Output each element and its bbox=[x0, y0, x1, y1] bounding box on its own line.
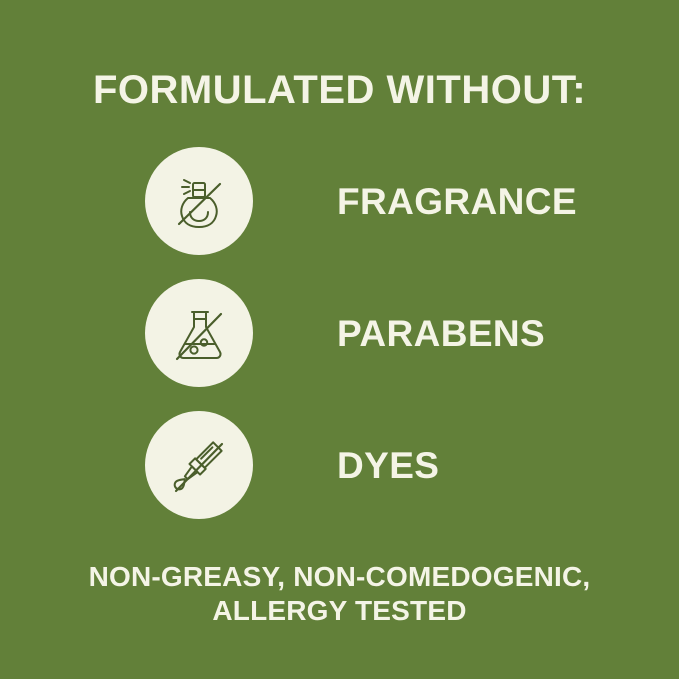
footer-line-1: NON-GREASY, NON-COMEDOGENIC, bbox=[0, 560, 679, 594]
list-item: PARABENS bbox=[0, 279, 679, 389]
list-item-label: PARABENS bbox=[337, 314, 545, 354]
no-parabens-flask-icon bbox=[163, 297, 235, 369]
footer-line-2: ALLERGY TESTED bbox=[0, 594, 679, 628]
list-item-label: DYES bbox=[337, 446, 439, 486]
list-item: FRAGRANCE bbox=[0, 147, 679, 257]
claims-list: FRAGRANCE bbox=[0, 147, 679, 543]
footer-claims: NON-GREASY, NON-COMEDOGENIC, ALLERGY TES… bbox=[0, 560, 679, 628]
no-fragrance-bottle-icon bbox=[163, 165, 235, 237]
formulated-without-card: FORMULATED WITHOUT: bbox=[0, 0, 679, 679]
badge-circle bbox=[145, 411, 253, 519]
no-dyes-dropper-icon bbox=[163, 429, 235, 501]
page-title: FORMULATED WITHOUT: bbox=[0, 68, 679, 112]
badge-circle bbox=[145, 147, 253, 255]
list-item: DYES bbox=[0, 411, 679, 521]
badge-circle bbox=[145, 279, 253, 387]
list-item-label: FRAGRANCE bbox=[337, 182, 577, 222]
